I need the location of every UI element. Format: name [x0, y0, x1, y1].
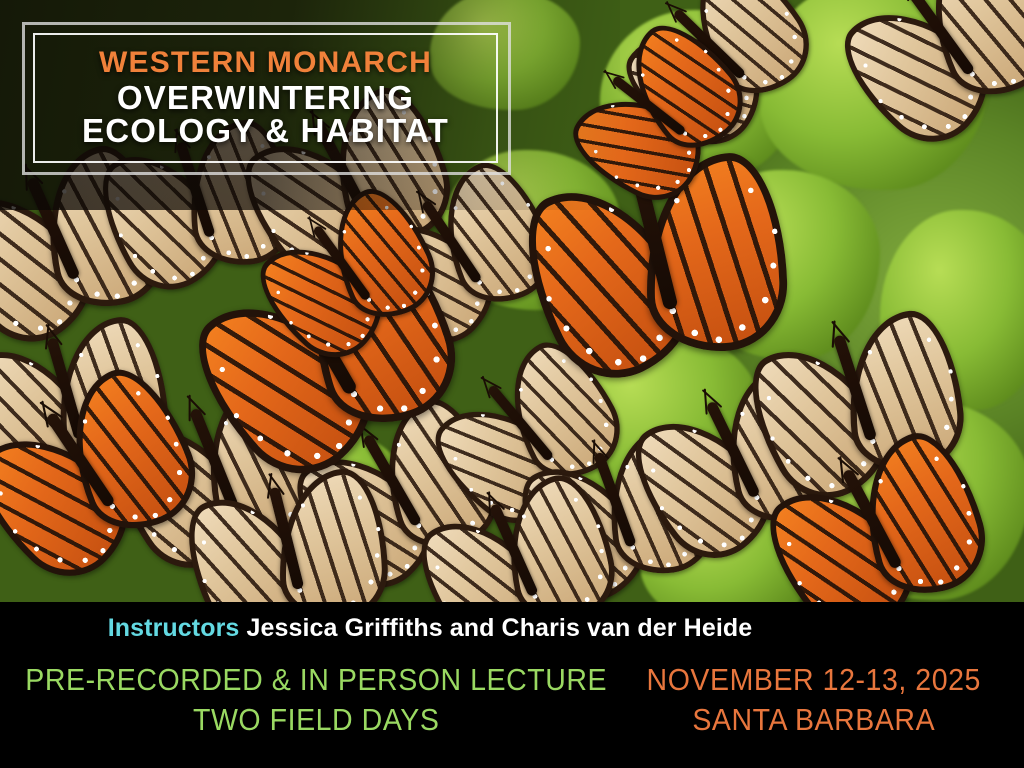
hero-photo: WESTERN MONARCH OVERWINTERING ECOLOGY & …: [0, 0, 1024, 602]
poster: WESTERN MONARCH OVERWINTERING ECOLOGY & …: [0, 0, 1024, 768]
instructors-names: Jessica Griffiths and Charis van der Hei…: [246, 614, 752, 642]
title-block: WESTERN MONARCH OVERWINTERING ECOLOGY & …: [33, 33, 498, 163]
format-line-1: PRE-RECORDED & IN PERSON LECTURE: [25, 660, 607, 700]
title-line-3: ECOLOGY & HABITAT: [82, 114, 449, 148]
details-columns: PRE-RECORDED & IN PERSON LECTURE TWO FIE…: [0, 660, 860, 739]
date-line-1: NOVEMBER 12-13, 2025: [647, 660, 981, 700]
date-column: NOVEMBER 12-13, 2025 SANTA BARBARA: [632, 660, 996, 739]
bottom-bar: Instructors Jessica Griffiths and Charis…: [0, 602, 1024, 768]
date-line-2: SANTA BARBARA: [647, 700, 981, 740]
format-column: PRE-RECORDED & IN PERSON LECTURE TWO FIE…: [0, 660, 632, 739]
format-line-2: TWO FIELD DAYS: [25, 700, 607, 740]
title-line-2: OVERWINTERING: [117, 81, 414, 115]
title-line-1: WESTERN MONARCH: [99, 48, 432, 79]
instructors-line: Instructors Jessica Griffiths and Charis…: [0, 614, 860, 643]
instructors-label: Instructors: [108, 614, 240, 642]
